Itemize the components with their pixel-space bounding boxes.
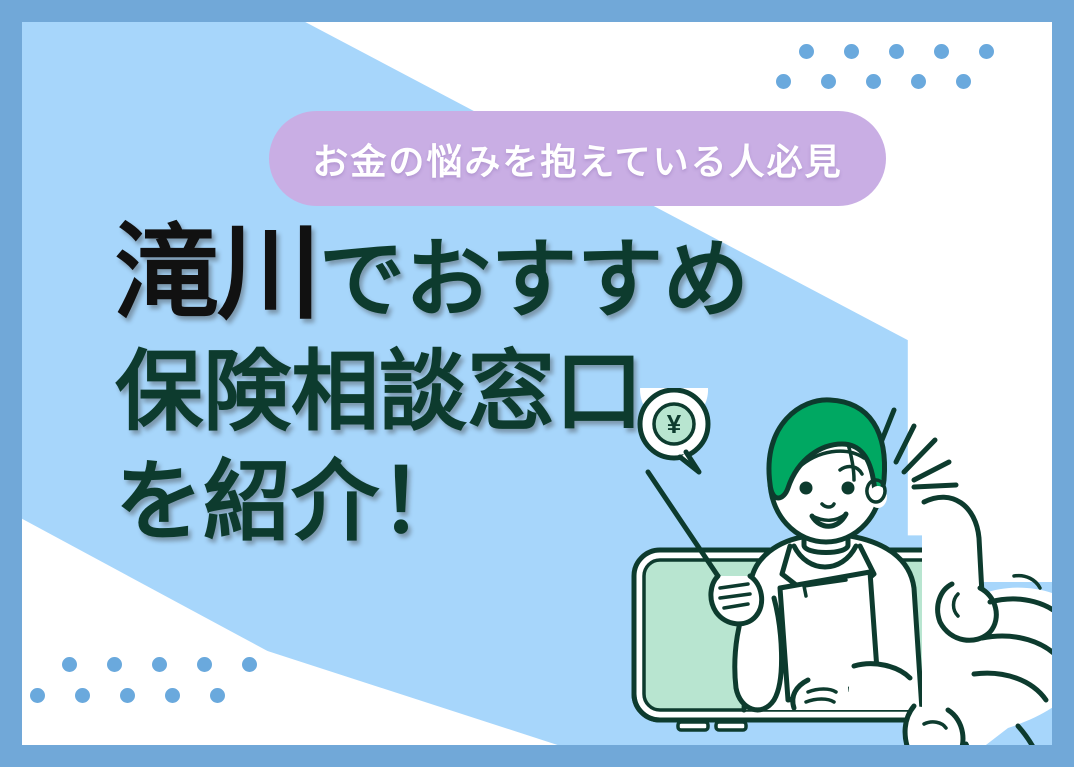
promo-banner: お金の悩みを抱えている人必見 滝川でおすすめ 保険相談窓口 を紹介！ .ol{f… (0, 0, 1074, 767)
decor-dot (62, 657, 77, 672)
catchphrase-badge-label: お金の悩みを抱えている人必見 (312, 133, 842, 185)
hand-grip-icon (711, 576, 762, 624)
dot-grid-top-right (799, 44, 1024, 89)
decor-dot (934, 44, 949, 59)
dot-row (776, 74, 1024, 89)
decor-dot (821, 74, 836, 89)
decor-dot (979, 44, 994, 59)
decor-dot (30, 688, 45, 703)
sparkle-lines-icon (878, 410, 956, 487)
decor-dot (152, 657, 167, 672)
headline-line-1: 滝川でおすすめ (115, 222, 815, 326)
decor-dot (866, 74, 881, 89)
decor-dot (165, 688, 180, 703)
catchphrase-badge: お金の悩みを抱えている人必見 (269, 111, 886, 206)
svg-text:¥: ¥ (667, 409, 682, 439)
eye-right (842, 482, 855, 495)
resting-hand-icon (793, 680, 848, 708)
decor-dot (120, 688, 135, 703)
decor-dot (956, 74, 971, 89)
decor-dot (107, 657, 122, 672)
dot-row (62, 657, 287, 672)
dot-row (799, 44, 1024, 59)
headline-line-1-suffix: でおすすめ (319, 232, 749, 328)
decor-dot (799, 44, 814, 59)
decor-dot (210, 688, 225, 703)
decor-dot (889, 44, 904, 59)
eye-left (800, 482, 813, 495)
decor-dot (242, 657, 257, 672)
banner-canvas: お金の悩みを抱えている人必見 滝川でおすすめ 保険相談窓口 を紹介！ .ol{f… (22, 22, 1052, 745)
decor-dot (911, 74, 926, 89)
illustration-woman-advisor-on-smartphone: .ol{fill:none;stroke:#0d3b2e;stroke-widt… (622, 388, 1052, 745)
yen-speech-bubble-icon: ¥ (640, 388, 708, 472)
decor-dot (844, 44, 859, 59)
dot-row (30, 688, 287, 703)
headline-line-2-text: 保険相談窓口 (115, 342, 643, 441)
decor-dot (197, 657, 212, 672)
headline-city-name: 滝川 (115, 216, 319, 332)
dot-grid-bottom-left (62, 657, 287, 703)
decor-dot (75, 688, 90, 703)
holding-hand-icon (905, 496, 1052, 745)
headline-line-3-text: を紹介！ (115, 452, 467, 551)
decor-dot (776, 74, 791, 89)
